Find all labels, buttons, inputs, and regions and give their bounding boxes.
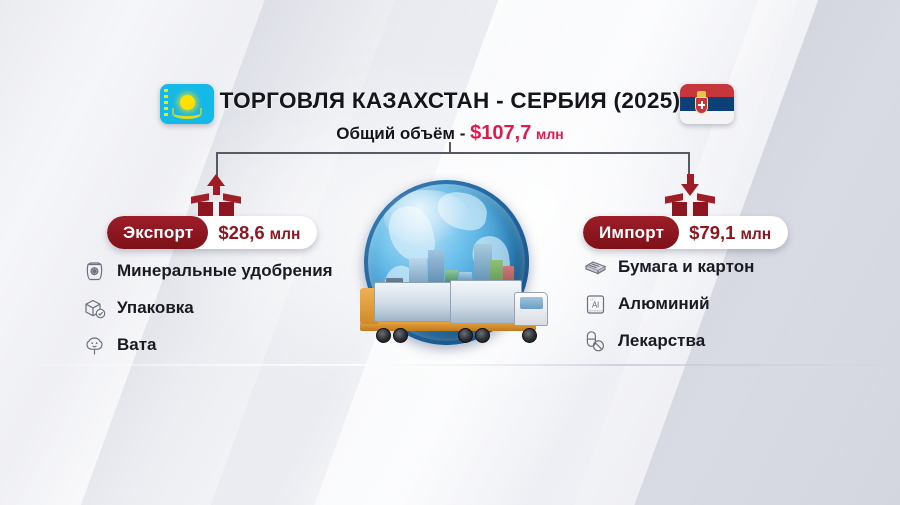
truck-cab <box>514 292 548 326</box>
export-items-list: Минеральные удобрения Упаковка <box>82 258 333 369</box>
import-badge-unit: млн <box>740 226 771 244</box>
export-badge-unit: млн <box>270 226 301 244</box>
list-item: Лекарства <box>583 328 754 354</box>
infographic-stage: ТОРГОВЛЯ КАЗАХСТАН - СЕРБИЯ (2025) Общий… <box>0 0 900 505</box>
truck-wheel <box>522 328 537 343</box>
export-arrow-stem <box>213 185 220 195</box>
export-badge-value-group: $28,6 млн <box>208 222 317 244</box>
import-badge-label: Импорт <box>583 216 679 249</box>
list-item: Бумага и картон <box>583 254 754 280</box>
cotton-plant-icon <box>82 333 107 358</box>
truck-wheel <box>475 328 490 343</box>
cargo-truck-icon <box>346 276 552 348</box>
total-volume-unit: млн <box>536 126 564 142</box>
truck-wheel <box>393 328 408 343</box>
fertilizer-sack-icon <box>82 259 107 284</box>
list-item-label: Бумага и картон <box>618 257 754 277</box>
paper-stack-icon <box>583 255 608 280</box>
package-box-icon <box>82 296 107 321</box>
pills-icon <box>583 329 608 354</box>
export-badge-value: $28,6 <box>218 222 264 244</box>
svg-text:13: 13 <box>590 297 594 301</box>
export-badge-label: Экспорт <box>107 216 208 249</box>
list-item-label: Минеральные удобрения <box>117 261 333 281</box>
list-item: Минеральные удобрения <box>82 258 333 284</box>
list-item: Упаковка <box>82 295 333 321</box>
truck-trailer-rear <box>374 282 452 322</box>
list-item-label: Упаковка <box>117 298 194 318</box>
import-badge-value: $79,1 <box>689 222 735 244</box>
total-volume-amount: $107,7 <box>470 122 531 144</box>
truck-trailer-front <box>450 280 522 324</box>
truck-wheel <box>376 328 391 343</box>
page-title: ТОРГОВЛЯ КАЗАХСТАН - СЕРБИЯ (2025) <box>0 88 900 114</box>
list-item-label: Лекарства <box>618 331 705 351</box>
aluminium-element-icon: Al Aluminium 13 <box>583 292 608 317</box>
list-item: Al Aluminium 13 Алюминий <box>583 291 754 317</box>
import-items-list: Бумага и картон Al Aluminium 13 Алюминий <box>583 254 754 365</box>
import-badge-value-group: $79,1 млн <box>679 222 788 244</box>
import-badge: Импорт $79,1 млн <box>583 216 788 249</box>
list-item: Вата <box>82 332 333 358</box>
list-item-label: Вата <box>117 335 157 355</box>
export-badge: Экспорт $28,6 млн <box>107 216 317 249</box>
list-item-label: Алюминий <box>618 294 710 314</box>
svg-text:Aluminium: Aluminium <box>588 308 603 312</box>
total-volume-label: Общий объём - <box>336 124 465 143</box>
truck-wheel <box>458 328 473 343</box>
globe-cargo-truck-illustration <box>364 180 536 350</box>
